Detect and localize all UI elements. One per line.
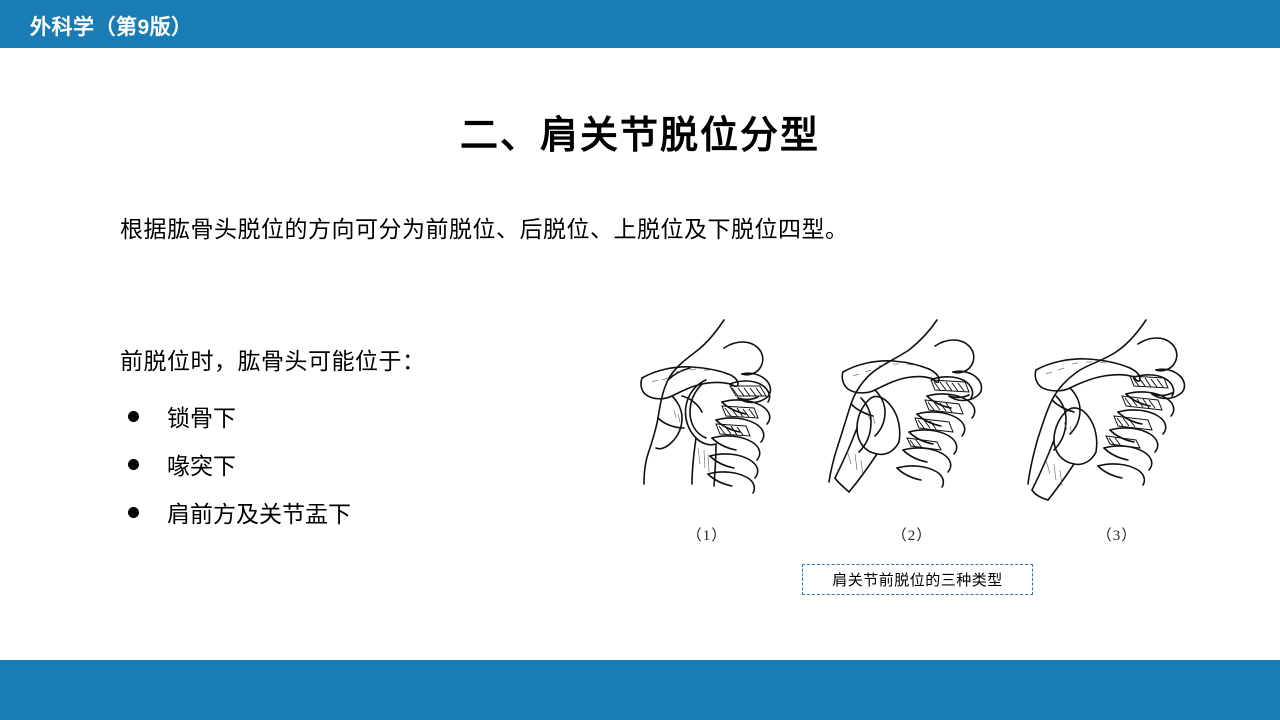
bullet-list: 锁骨下 喙突下 肩前方及关节盂下 bbox=[120, 392, 351, 536]
footer-bar bbox=[0, 660, 1280, 720]
figure-caption-box: 肩关节前脱位的三种类型 bbox=[802, 564, 1033, 595]
figure-item-3: （3） bbox=[1022, 318, 1212, 533]
shoulder-anatomy-subcoracoid-icon bbox=[817, 318, 1007, 508]
figure-group: （1） bbox=[612, 318, 1212, 533]
bullet-dot-icon bbox=[128, 411, 139, 422]
list-item-label: 喙突下 bbox=[167, 447, 236, 481]
list-item: 喙突下 bbox=[120, 440, 351, 488]
shoulder-anatomy-normal-icon bbox=[612, 318, 802, 508]
figure-caption: （2） bbox=[817, 524, 1007, 545]
figure-item-1: （1） bbox=[612, 318, 802, 533]
figure-caption-box-text: 肩关节前脱位的三种类型 bbox=[832, 569, 1003, 590]
bullet-dot-icon bbox=[128, 459, 139, 470]
sublead-paragraph: 前脱位时，肱骨头可能位于： bbox=[120, 342, 426, 376]
list-item: 锁骨下 bbox=[120, 392, 351, 440]
list-item: 肩前方及关节盂下 bbox=[120, 488, 351, 536]
figure-item-2: （2） bbox=[817, 318, 1007, 533]
figure-caption: （1） bbox=[612, 524, 802, 545]
list-item-label: 肩前方及关节盂下 bbox=[167, 495, 351, 529]
list-item-label: 锁骨下 bbox=[167, 399, 236, 433]
bullet-dot-icon bbox=[128, 507, 139, 518]
slide-root: 外科学（第9版） 二、肩关节脱位分型 根据肱骨头脱位的方向可分为前脱位、后脱位、… bbox=[0, 0, 1280, 720]
lead-paragraph: 根据肱骨头脱位的方向可分为前脱位、后脱位、上脱位及下脱位四型。 bbox=[120, 210, 849, 244]
shoulder-anatomy-subglenoid-icon bbox=[1022, 318, 1212, 508]
page-title: 二、肩关节脱位分型 bbox=[0, 104, 1280, 159]
book-title: 外科学（第9版） bbox=[30, 11, 193, 41]
header-bar: 外科学（第9版） bbox=[0, 0, 1280, 48]
figure-caption: （3） bbox=[1022, 524, 1212, 545]
